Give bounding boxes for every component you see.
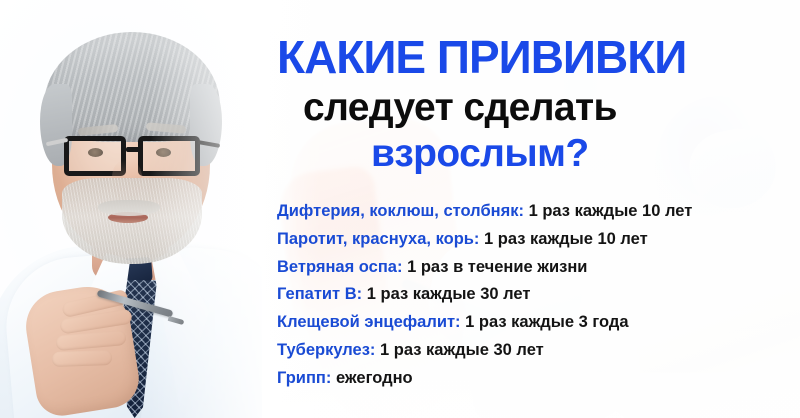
vaccine-name: Клещевой энцефалит: [277,313,461,331]
vaccine-frequency: 1 раз каждые 30 лет [367,285,531,303]
poster-root: КАКИЕ ПРИВИВКИ следует сделать взрослым?… [0,0,800,418]
vaccine-frequency: 1 раз каждые 3 года [465,313,628,331]
headline-line-1: КАКИЕ ПРИВИВКИ [277,34,777,80]
vaccine-schedule-list: Дифтерия, коклюш, столбняк: 1 раз каждые… [277,198,787,393]
vaccine-frequency: 1 раз каждые 30 лет [380,341,544,359]
list-item: Грипп: ежегодно [277,365,787,393]
list-item: Дифтерия, коклюш, столбняк: 1 раз каждые… [277,198,787,226]
vaccine-frequency: 1 раз каждые 10 лет [529,202,693,220]
vaccine-frequency: 1 раз каждые 10 лет [484,230,648,248]
headline-line-2: следует сделать [303,88,777,127]
poster-content: КАКИЕ ПРИВИВКИ следует сделать взрослым?… [0,0,800,418]
vaccine-name: Дифтерия, коклюш, столбняк: [277,202,524,220]
vaccine-frequency: ежегодно [336,369,413,387]
vaccine-name: Туберкулез: [277,341,375,359]
vaccine-name: Паротит, краснуха, корь: [277,230,479,248]
vaccine-name: Ветряная оспа: [277,258,402,276]
list-item: Паротит, краснуха, корь: 1 раз каждые 10… [277,226,787,254]
vaccine-name: Гепатит B: [277,285,362,303]
list-item: Туберкулез: 1 раз каждые 30 лет [277,337,787,365]
headline-line-3: взрослым? [371,134,777,173]
vaccine-frequency: 1 раз в течение жизни [407,258,587,276]
list-item: Клещевой энцефалит: 1 раз каждые 3 года [277,309,787,337]
headline-block: КАКИЕ ПРИВИВКИ следует сделать взрослым? [277,34,777,173]
list-item: Гепатит B: 1 раз каждые 30 лет [277,281,787,309]
list-item: Ветряная оспа: 1 раз в течение жизни [277,254,787,282]
vaccine-name: Грипп: [277,369,331,387]
